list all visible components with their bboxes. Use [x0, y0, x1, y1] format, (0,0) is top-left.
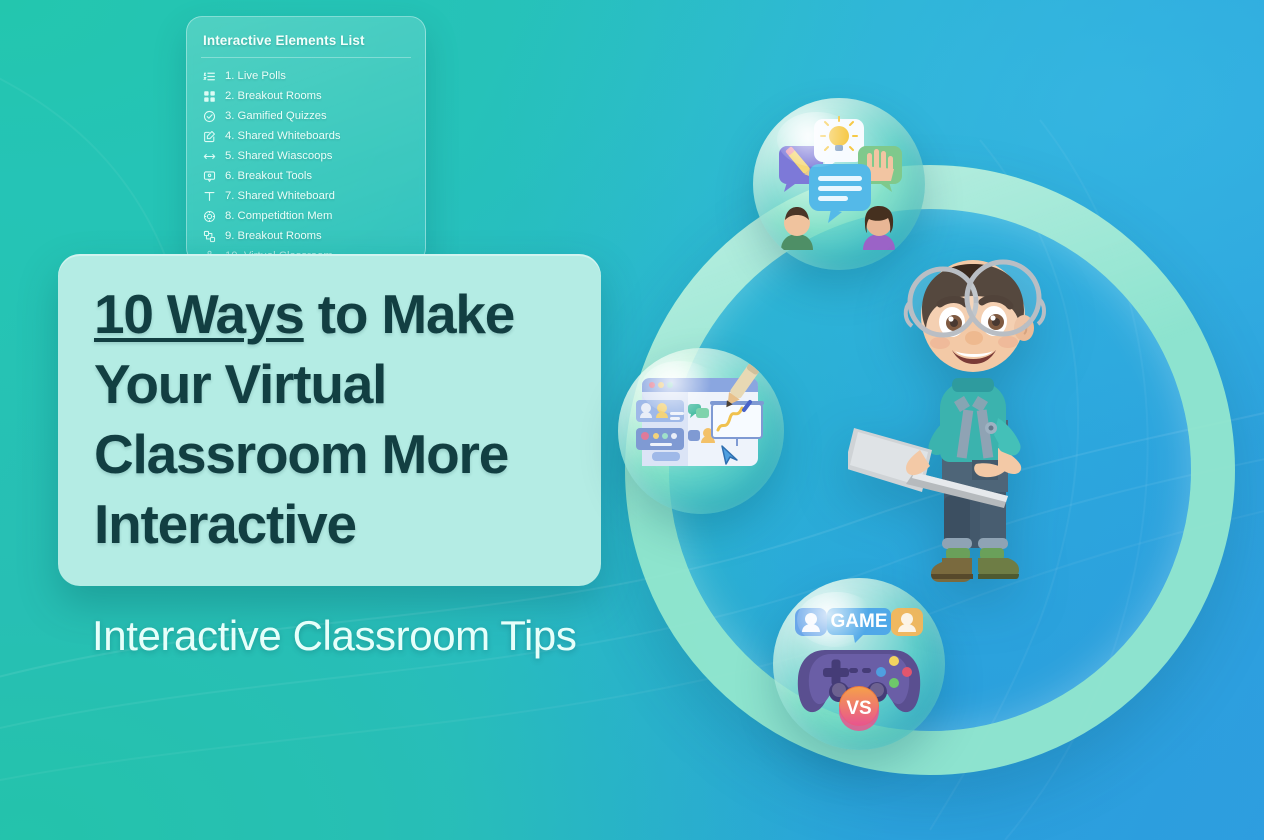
list-item-label: 7. Shared Whiteboard: [225, 190, 335, 202]
pencil-square-icon: [203, 130, 216, 143]
title-line-3: Classroom More: [94, 423, 508, 485]
title-underlined-part: 10 Ways: [94, 283, 304, 345]
list-item-label: 2. Breakout Rooms: [225, 90, 322, 102]
panel-divider: [201, 57, 411, 58]
round-glasses: [906, 262, 1044, 335]
chat-square-icon: [203, 170, 216, 183]
player-avatar-blue: [795, 608, 827, 636]
title-line-2: Your Virtual: [94, 353, 386, 415]
page-title: 10 Ways to MakeYour VirtualClassroom Mor…: [94, 280, 575, 559]
list-item[interactable]: 1. Live Polls: [187, 66, 425, 86]
list-item[interactable]: 7. Shared Whiteboard: [187, 186, 425, 206]
student-avatar-boy: [781, 207, 813, 250]
list-item-label: 3. Gamified Quizzes: [225, 110, 327, 122]
player-avatar-orange: [891, 608, 923, 636]
panel-item-list: 1. Live Polls 2. Breakout Rooms 3. Gamif…: [187, 64, 425, 264]
chat-collaboration-sphere: [753, 98, 925, 270]
game-art: GAME: [773, 578, 945, 750]
target-globe-icon: [203, 210, 216, 223]
title-rest-part: to Make: [304, 283, 514, 345]
list-item-label: 9. Breakout Rooms: [225, 230, 322, 242]
list-item[interactable]: 6. Breakout Tools: [187, 166, 425, 186]
list-item-label: 5. Shared Wiascoops: [225, 150, 332, 162]
list-item[interactable]: 8. Competidtion Mem: [187, 206, 425, 226]
arrows-horizontal-icon: [203, 150, 216, 163]
game-sphere: GAME: [773, 578, 945, 750]
grid-icon: [203, 90, 216, 103]
list-item-label: 1. Live Polls: [225, 70, 286, 82]
list-item[interactable]: 5. Shared Wiascoops: [187, 146, 425, 166]
list-item[interactable]: 2. Breakout Rooms: [187, 86, 425, 106]
list-item[interactable]: 3. Gamified Quizzes: [187, 106, 425, 126]
list-item-label: 4. Shared Whiteboards: [225, 130, 341, 142]
check-circle-icon: [203, 110, 216, 123]
game-label-bubble: GAME: [827, 608, 891, 643]
student-avatar-girl: [863, 206, 895, 250]
game-label: GAME: [831, 611, 888, 632]
boots: [931, 558, 1019, 582]
list-item-label: 8. Competidtion Mem: [225, 210, 332, 222]
vs-label: VS: [846, 698, 871, 719]
title-line-4: Interactive: [94, 493, 356, 555]
list-item-label: 6. Breakout Tools: [225, 170, 312, 182]
chat-collaboration-art: [753, 98, 925, 270]
interactive-elements-panel[interactable]: Interactive Elements List 1. Live Polls …: [186, 16, 426, 264]
list-item[interactable]: 4. Shared Whiteboards: [187, 126, 425, 146]
list-ordered-icon: [203, 70, 216, 83]
panel-title: Interactive Elements List: [187, 17, 425, 57]
list-item[interactable]: 9. Breakout Rooms: [187, 226, 425, 246]
poster-canvas: Interactive Elements List 1. Live Polls …: [0, 0, 1264, 840]
whiteboard-sphere: [618, 348, 784, 514]
message-bubble: [809, 164, 871, 223]
text-type-icon: [203, 190, 216, 203]
character-art: [848, 250, 1098, 600]
share-network-icon: [203, 230, 216, 243]
title-card: 10 Ways to MakeYour VirtualClassroom Mor…: [58, 254, 601, 586]
vs-badge: VS: [839, 686, 879, 731]
whiteboard-art: [618, 348, 784, 514]
boy-with-laptop: [848, 250, 1098, 600]
page-subtitle: Interactive Classroom Tips: [92, 608, 612, 663]
